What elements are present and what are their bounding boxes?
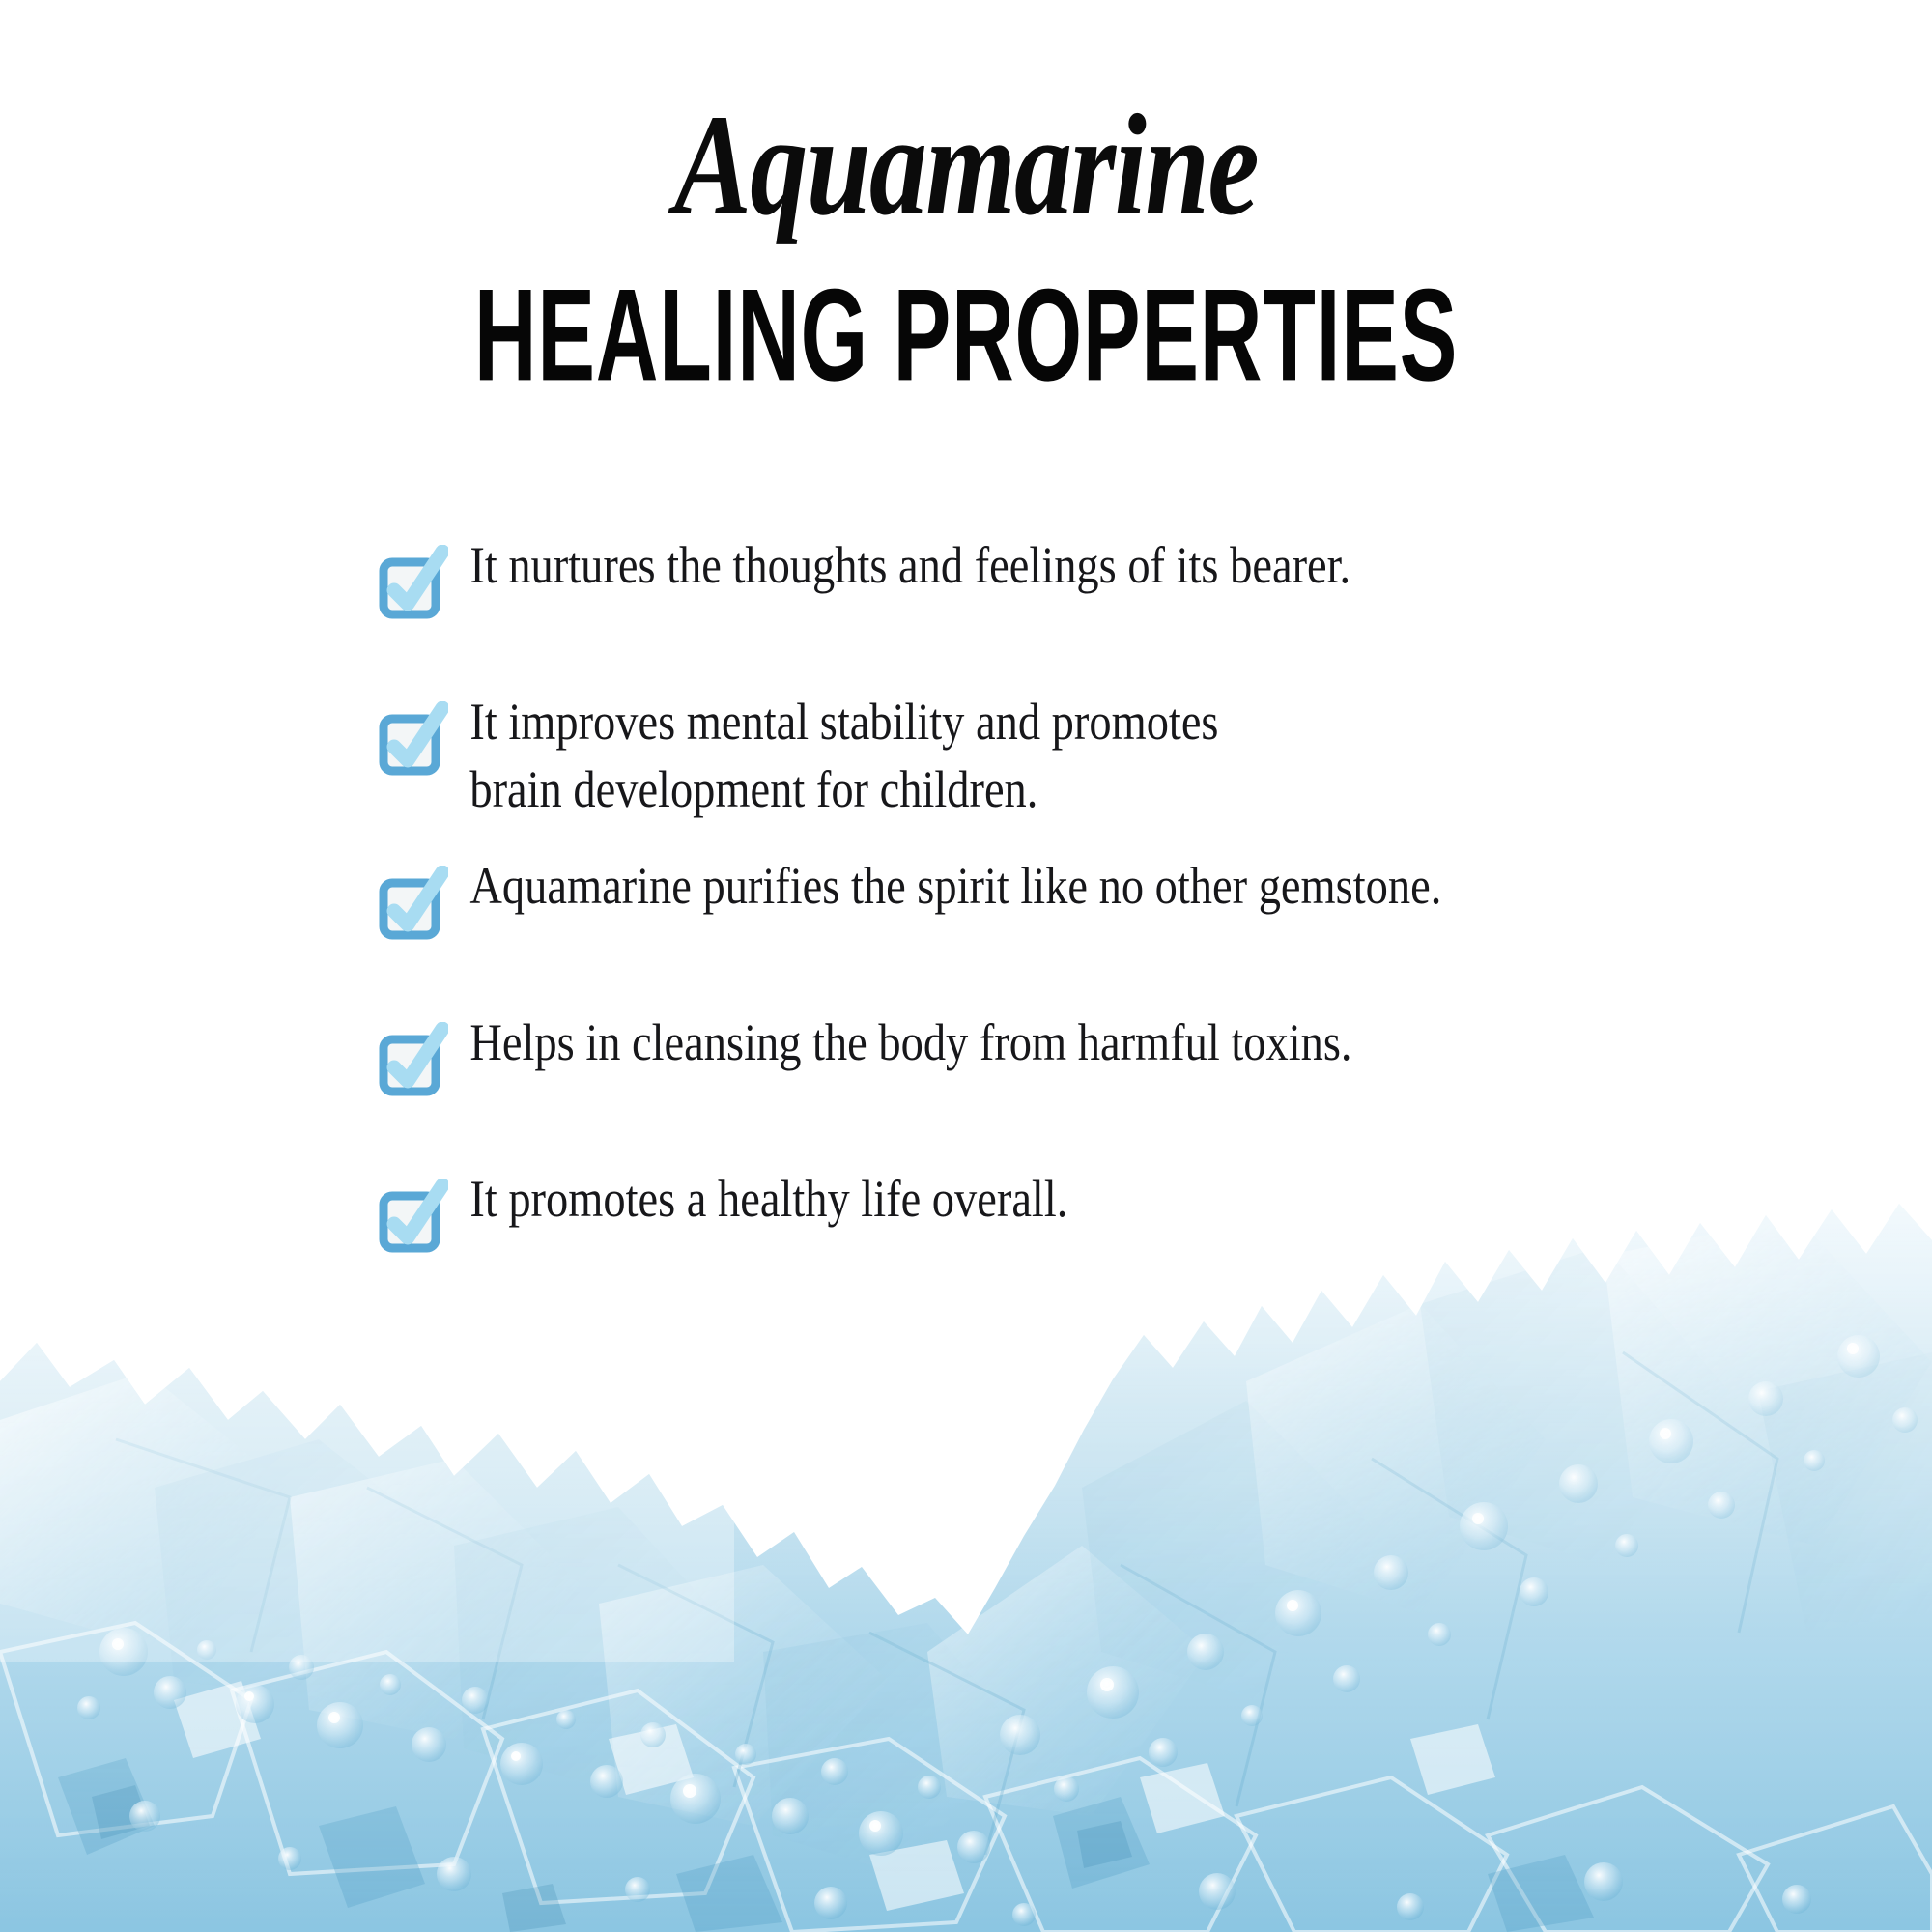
- header: Aquamarine HEALING PROPERTIES: [0, 0, 1932, 392]
- list-item: Helps in cleansing the body from harmful…: [379, 1007, 1789, 1097]
- list-item-label: Aquamarine purifies the spirit like no o…: [448, 850, 1602, 920]
- list-item: It improves mental stability and promote…: [379, 686, 1789, 823]
- list-item-label: It improves mental stability and promote…: [448, 686, 1602, 823]
- checkbox-checked-icon: [379, 701, 448, 777]
- ice-cubes-photo: [0, 1198, 1932, 1932]
- page-subtitle: HEALING PROPERTIES: [290, 238, 1642, 402]
- checkbox-checked-icon: [379, 866, 448, 941]
- page-title: Aquamarine: [193, 0, 1739, 238]
- list-item-label: It nurtures the thoughts and feelings of…: [448, 529, 1602, 599]
- poster-canvas: Aquamarine HEALING PROPERTIES It nurture…: [0, 0, 1932, 1932]
- list-item: Aquamarine purifies the spirit like no o…: [379, 850, 1789, 941]
- list-item-label: Helps in cleansing the body from harmful…: [448, 1007, 1602, 1076]
- checkbox-checked-icon: [379, 1022, 448, 1097]
- list-item: It nurtures the thoughts and feelings of…: [379, 529, 1789, 620]
- checkbox-checked-icon: [379, 545, 448, 620]
